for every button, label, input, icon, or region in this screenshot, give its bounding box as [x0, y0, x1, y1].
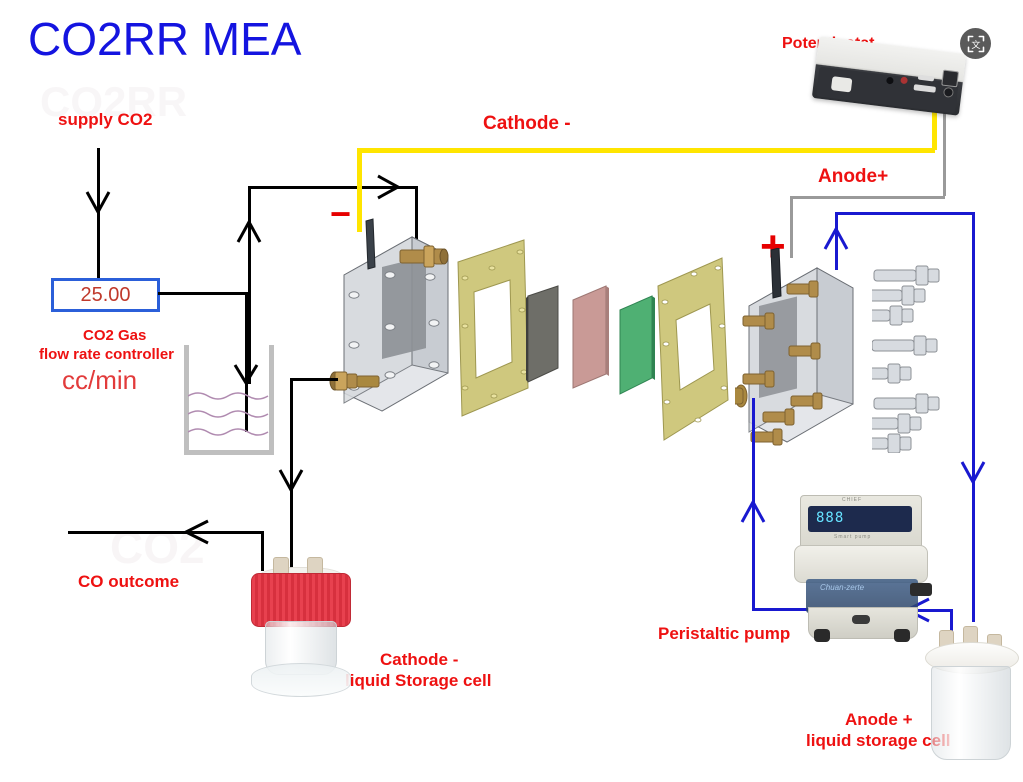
- co2-flow-rate-controller[interactable]: 25.00: [51, 278, 160, 312]
- mea-layer-gas-diffusion-electrode: [524, 282, 564, 392]
- controller-units: cc/min: [62, 366, 137, 396]
- pump-sub-label: Smart pump: [834, 534, 871, 540]
- co-outcome-arrowhead: [182, 519, 210, 545]
- cathode-storage-bottle: [245, 563, 355, 703]
- bottle-base-flange: [251, 663, 351, 697]
- mea-layer-anode-gasket: [650, 244, 742, 450]
- cathode-liquid-outlet-fitting: [326, 364, 386, 398]
- translate-glyph: 文: [966, 34, 986, 54]
- pump-front-brand: Chuan-zerte: [820, 583, 864, 592]
- co-outcome-line-h: [68, 531, 263, 534]
- potentiostat-device[interactable]: [812, 36, 966, 116]
- power-inlet-port: [831, 76, 853, 92]
- anolyte-riser-arrowhead: [740, 498, 766, 524]
- bottle-red-cap: [251, 573, 351, 627]
- controller-out-line-h: [158, 292, 246, 295]
- anode-wire-v-right: [943, 106, 946, 196]
- supply-co2-line-lower: [97, 212, 100, 280]
- cathode-gas-inlet-arrowhead: [376, 174, 402, 200]
- pump-front-port: [852, 615, 870, 624]
- anolyte-down-arrowhead: [960, 460, 986, 486]
- label-anode-wire: Anode+: [818, 166, 888, 188]
- anolyte-right-down: [972, 212, 975, 622]
- cathode-outlet-line-h: [290, 378, 338, 381]
- pump-head-housing: [794, 545, 928, 583]
- anode-wire-h: [790, 196, 945, 199]
- mea-layer-catalyst: [568, 282, 614, 400]
- pump-keypad[interactable]: [868, 509, 908, 529]
- anolyte-up-arrowhead: [823, 225, 849, 251]
- flow-rate-value: 25.00: [54, 281, 157, 309]
- fan-grille: [941, 70, 959, 88]
- pump-head-knob[interactable]: [910, 583, 932, 596]
- anode-storage-bottle: [925, 638, 1023, 768]
- cathode-gas-inlet-fitting: [396, 240, 456, 274]
- label-co-outcome: CO outcome: [78, 572, 179, 592]
- pump-foot-right: [894, 629, 910, 642]
- pump-display-value: 888: [816, 510, 856, 528]
- label-supply-co2: supply CO2: [58, 110, 152, 130]
- pump-brand-top: CHIEF: [842, 497, 862, 503]
- bubbler-out-arrowhead: [236, 218, 262, 244]
- label-cathode-cell-line2: liquid Storage cell: [345, 671, 491, 691]
- figure-canvas: CO2RR CO2 CO2RR MEA 文 supply CO2 25.00 C…: [0, 0, 1023, 782]
- label-anode-cell-line1: Anode +: [845, 710, 913, 730]
- label-cathode-cell-line1: Cathode -: [380, 650, 458, 670]
- cathode-wire-v-right: [932, 108, 937, 150]
- anolyte-top-line: [835, 212, 975, 215]
- bubbler-out-line-v: [248, 186, 251, 384]
- controller-label-line1: CO2 Gas: [83, 327, 146, 344]
- svg-text:文: 文: [971, 38, 980, 50]
- cathode-outlet-arrowhead: [278, 468, 304, 494]
- anode-plate-bolts: [735, 250, 875, 460]
- controller-label-line2: flow rate controller: [39, 346, 174, 363]
- peristaltic-pump-device[interactable]: 888 CHIEF Smart pump Chuan-zerte: [790, 495, 930, 645]
- label-peristaltic-pump: Peristaltic pump: [658, 624, 790, 644]
- page-title: CO2RR MEA: [28, 12, 301, 66]
- cathode-wire-h: [357, 148, 935, 153]
- bubbler-liquid: [188, 390, 272, 452]
- spare-bolts-set: [872, 258, 1002, 453]
- pump-foot-left: [814, 629, 830, 642]
- anode-bottle-glass-body: [931, 666, 1011, 760]
- label-cathode-wire: Cathode -: [483, 113, 571, 135]
